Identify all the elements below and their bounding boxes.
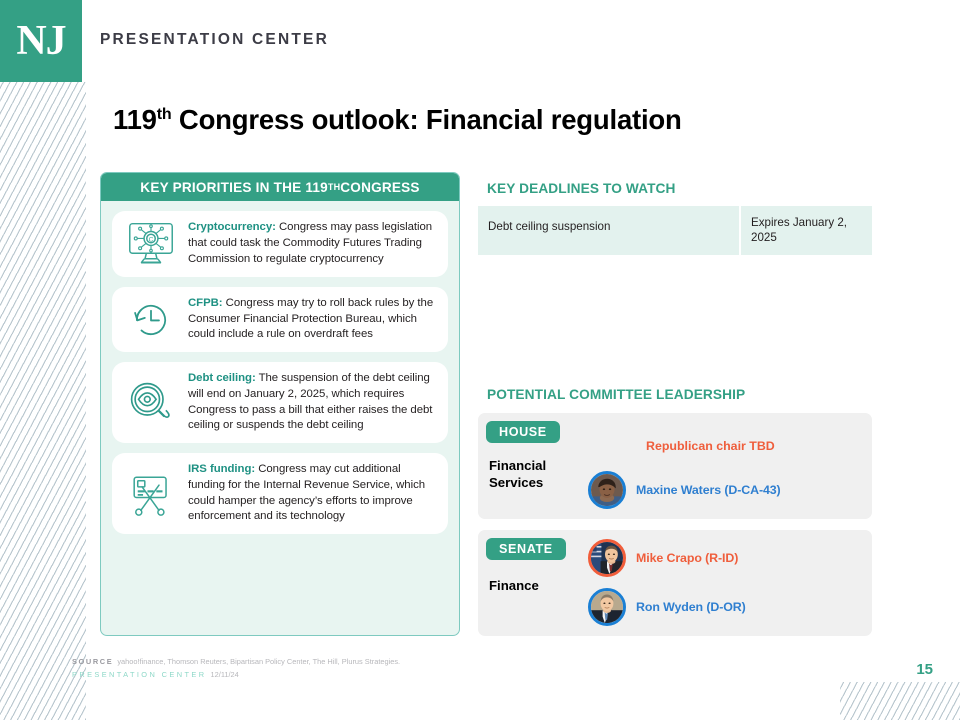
- crypto-monitor-icon: C: [120, 220, 182, 268]
- source-line: SOURCE yahoo!finance, Thomson Reuters, B…: [72, 657, 400, 666]
- person-entry: Ron Wyden (D-OR): [588, 588, 746, 626]
- committee-block-house: HOUSE FinancialServices Republican chair…: [478, 413, 872, 519]
- priority-card-text: IRS funding: Congress may cut additional…: [188, 462, 436, 525]
- magnifier-eye-icon: [120, 379, 182, 427]
- nj-logo-text: NJ: [16, 20, 65, 62]
- priority-card-body: Congress may try to roll back rules by t…: [188, 297, 433, 340]
- committee-leadership-heading: POTENTIAL COMMITTEE LEADERSHIP: [487, 387, 745, 402]
- person-name: Mike Crapo (R-ID): [636, 551, 738, 565]
- page-title-rest: Congress outlook: Financial regulation: [171, 104, 681, 135]
- priority-card: C Cryptocurrency: Congress: [112, 211, 448, 277]
- source-label: SOURCE: [72, 657, 113, 666]
- slide: NJ PRESENTATION CENTER 119th Congress ou…: [0, 0, 960, 720]
- person-name: Ron Wyden (D-OR): [636, 600, 746, 614]
- nj-logo: NJ: [0, 0, 82, 82]
- priority-card: Debt ceiling: The suspension of the debt…: [112, 362, 448, 443]
- page-title-lead: 119: [113, 104, 157, 135]
- key-deadlines-heading: KEY DEADLINES TO WATCH: [487, 181, 676, 196]
- key-priorities-header-sup: TH: [328, 182, 340, 192]
- priority-card-text: Debt ceiling: The suspension of the debt…: [188, 371, 436, 434]
- priority-card-text: CFPB: Congress may try to roll back rule…: [188, 296, 436, 343]
- chamber-badge-house: HOUSE: [486, 421, 560, 443]
- presentation-center-line: PRESENTATION CENTER 12/11/24: [72, 670, 239, 679]
- priority-card: IRS funding: Congress may cut additional…: [112, 453, 448, 534]
- committee-name-senate: Finance: [489, 578, 539, 595]
- key-priorities-header-post: CONGRESS: [340, 180, 419, 195]
- key-priorities-panel: KEY PRIORITIES IN THE 119TH CONGRESS C: [100, 172, 460, 636]
- priority-card: CFPB: Congress may try to roll back rule…: [112, 287, 448, 352]
- priority-card-term: Debt ceiling:: [188, 372, 256, 384]
- clock-rewind-icon: [120, 297, 182, 343]
- table-row: Debt ceiling suspension Expires January …: [478, 206, 872, 255]
- committee-block-senate: SENATE Finance: [478, 530, 872, 636]
- decorative-hatch-bottom-right: [840, 682, 960, 720]
- committee-name-line2: Services: [489, 475, 543, 490]
- page-number: 15: [916, 661, 933, 678]
- page-title: 119th Congress outlook: Financial regula…: [113, 104, 682, 136]
- deadline-date: Expires January 2, 2025: [740, 206, 872, 255]
- chamber-badge-senate: SENATE: [486, 538, 566, 560]
- avatar: [588, 471, 626, 509]
- avatar: [588, 588, 626, 626]
- presentation-center-label: PRESENTATION CENTER: [72, 670, 206, 679]
- republican-chair-tbd: Republican chair TBD: [646, 439, 775, 453]
- avatar: [588, 539, 626, 577]
- priority-card-text: Cryptocurrency: Congress may pass legisl…: [188, 220, 436, 267]
- person-entry: Maxine Waters (D-CA-43): [588, 471, 781, 509]
- priority-card-term: Cryptocurrency:: [188, 221, 276, 233]
- key-priorities-header: KEY PRIORITIES IN THE 119TH CONGRESS: [101, 173, 459, 201]
- committee-name-house: FinancialServices: [489, 458, 546, 491]
- decorative-hatch-left: [0, 82, 86, 720]
- card-scissors-icon: [120, 471, 182, 517]
- person-name: Maxine Waters (D-CA-43): [636, 483, 781, 497]
- priority-card-term: CFPB:: [188, 297, 223, 309]
- svg-text:C: C: [149, 237, 154, 244]
- priority-card-list: C Cryptocurrency: Congress: [101, 201, 459, 544]
- key-priorities-header-pre: KEY PRIORITIES IN THE 119: [140, 180, 328, 195]
- slide-date: 12/11/24: [211, 670, 239, 679]
- brand-title: PRESENTATION CENTER: [100, 31, 329, 49]
- page-title-ordinal: th: [157, 106, 172, 123]
- deadline-item: Debt ceiling suspension: [478, 206, 740, 255]
- priority-card-term: IRS funding:: [188, 463, 255, 475]
- person-entry: Mike Crapo (R-ID): [588, 539, 738, 577]
- committee-name-line1: Financial: [489, 458, 546, 473]
- source-text: yahoo!finance, Thomson Reuters, Bipartis…: [117, 657, 400, 666]
- key-deadlines-table: Debt ceiling suspension Expires January …: [478, 206, 872, 255]
